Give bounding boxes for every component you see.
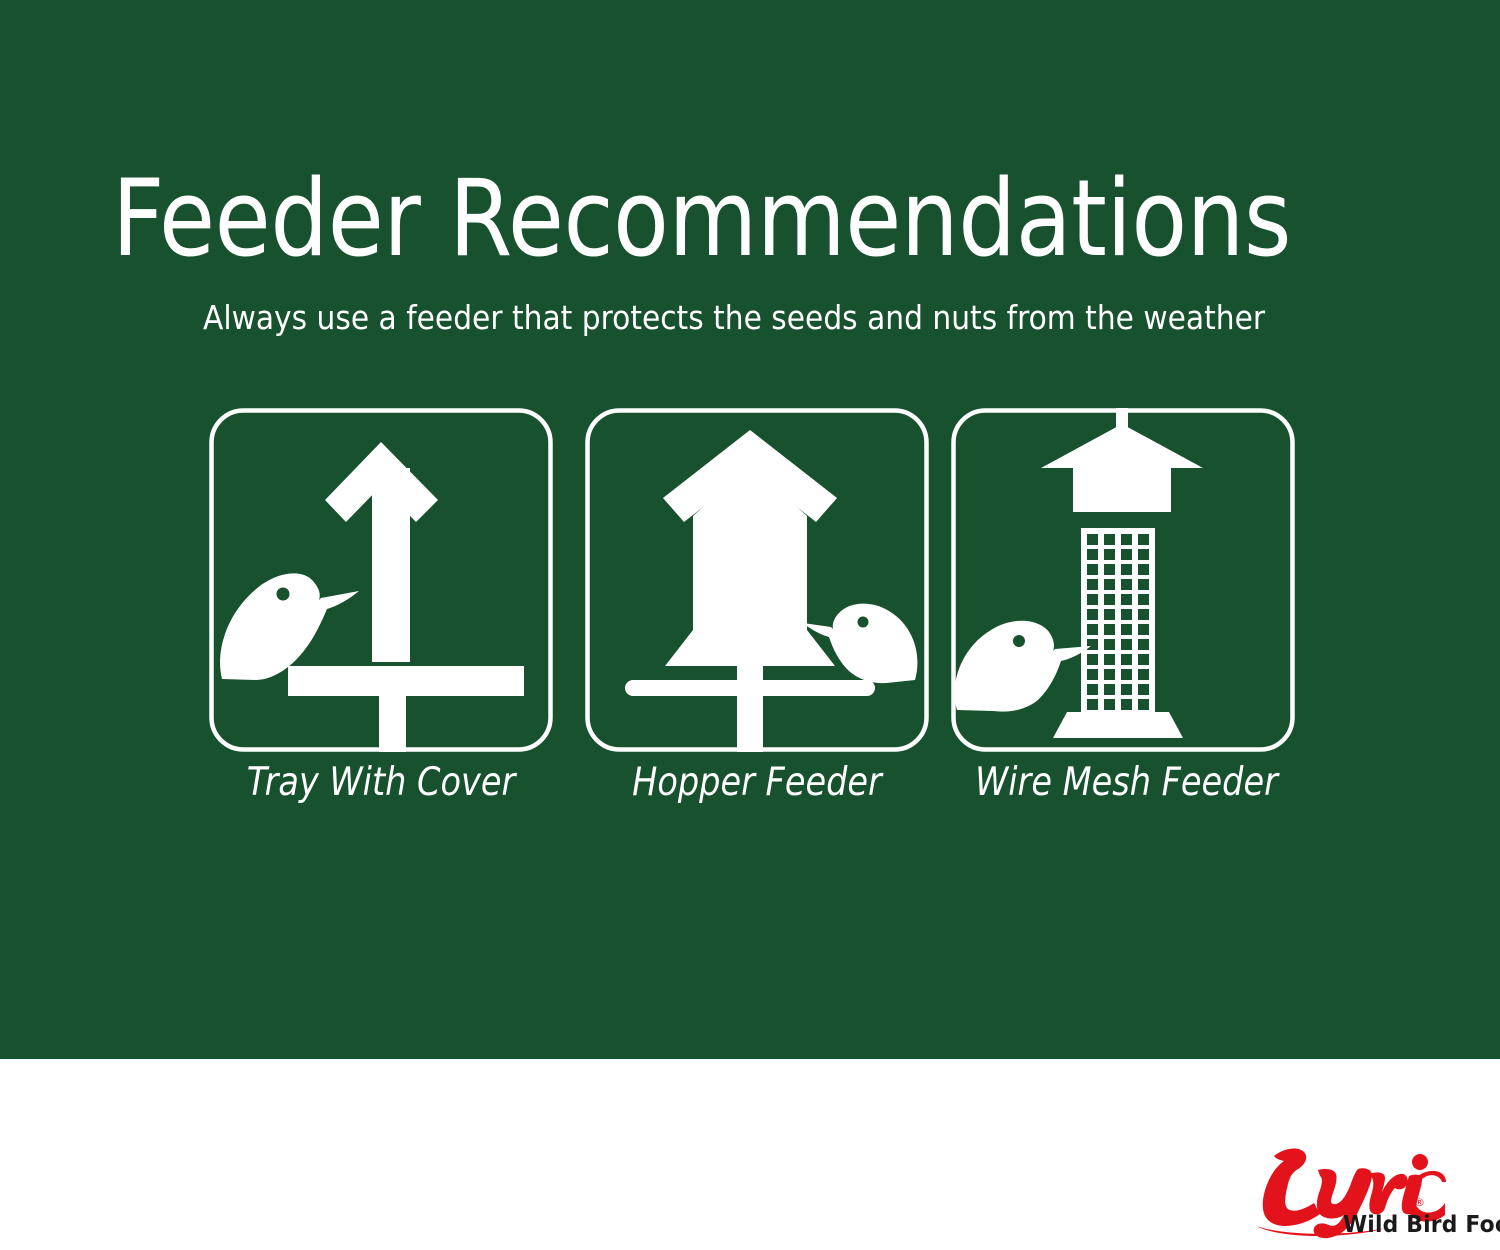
perched-bird (803, 604, 917, 683)
feeder-card-label: Wire Mesh Feeder (975, 760, 1271, 805)
feeder-card-label: Hopper Feeder (609, 760, 905, 805)
infographic-root: Feeder Recommendations Always use a feed… (0, 0, 1500, 1250)
flared-cap (1041, 424, 1203, 512)
post-base (379, 696, 406, 752)
feeder-card-list: Tray With Cover (0, 408, 1500, 838)
logo-tagline: Wild Bird Food (1343, 1212, 1500, 1238)
feeder-card-label: Tray With Cover (233, 760, 529, 805)
perched-bird (220, 573, 359, 680)
wire-mesh-feeder-icon (951, 408, 1295, 752)
page-subtitle: Always use a feeder that protects the se… (203, 300, 1283, 336)
lyric-logo: ® Wild Bird Food (1246, 1138, 1446, 1242)
page-title: Feeder Recommendations (112, 166, 1230, 272)
tray-with-cover-icon (209, 408, 553, 752)
vertical-post (372, 468, 410, 662)
registered-mark: ® (1414, 1196, 1425, 1209)
vertical-post (737, 666, 763, 752)
perched-bird (955, 621, 1091, 712)
base-tray (1053, 712, 1183, 738)
tray-bar (288, 666, 524, 696)
hopper-feeder-icon (585, 408, 929, 752)
